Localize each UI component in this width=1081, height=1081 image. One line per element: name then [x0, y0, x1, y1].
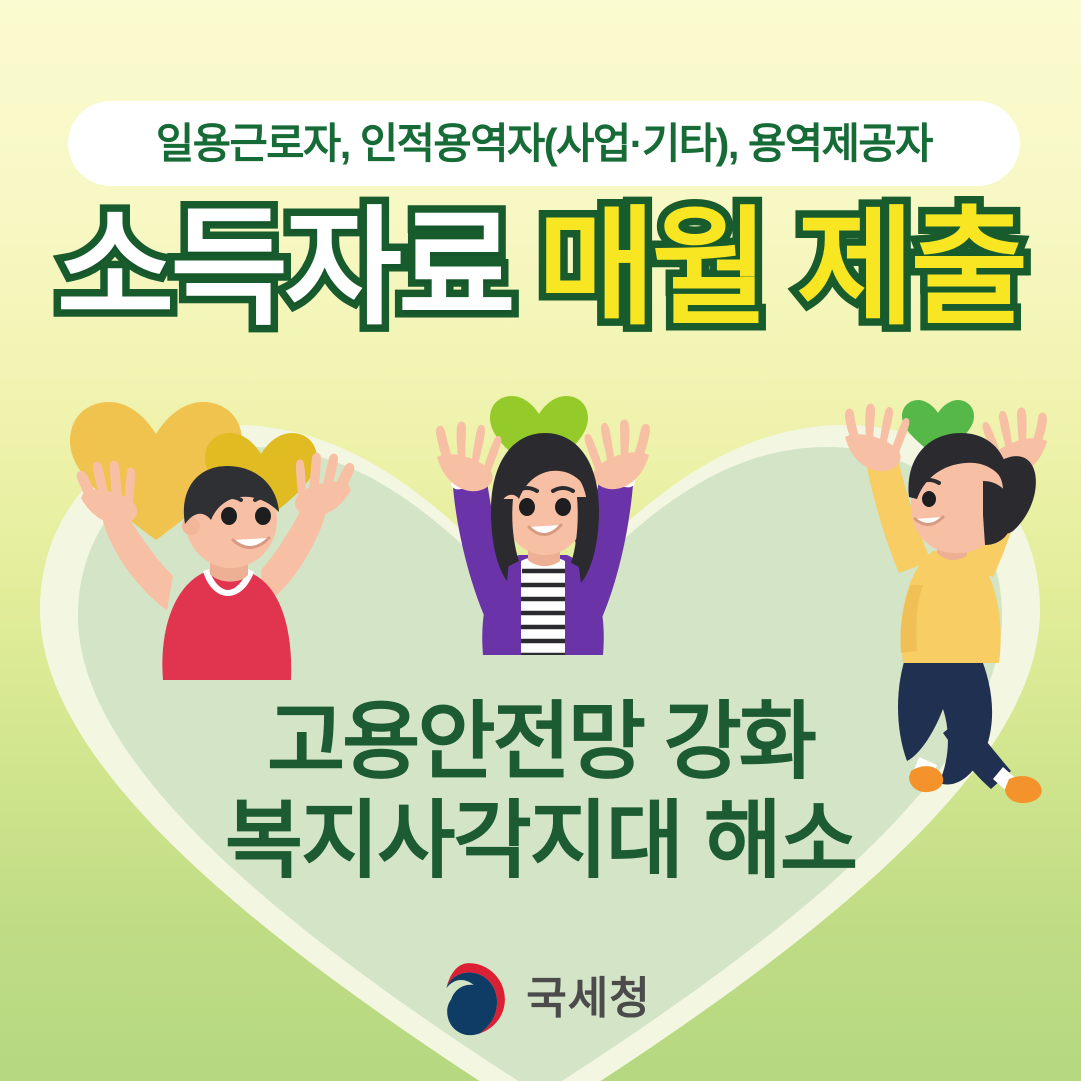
cheering-woman-illustration [395, 375, 685, 655]
taegeuk-logo-icon [430, 960, 508, 1038]
eligibility-badge: 일용근로자, 인적용역자(사업·기타), 용역제공자 [68, 101, 1020, 186]
promotional-poster: 일용근로자, 인적용역자(사업·기타), 용역제공자 소득자료매월 제출 고용안… [0, 0, 1081, 1081]
page-title: 소득자료매월 제출 [0, 205, 1081, 333]
headline-part-income-data: 소득자료 [57, 197, 512, 340]
agency-name: 국세청 [526, 977, 650, 1021]
eligibility-badge-text: 일용근로자, 인적용역자(사업·기타), 용역제공자 [156, 123, 932, 165]
subtitle-block: 고용안전망 강화 복지사각지대 해소 [0, 694, 1081, 891]
subtitle-line-employment-safety-net: 고용안전망 강화 [0, 694, 1081, 793]
subtitle-line-welfare-blind-spot: 복지사각지대 해소 [0, 793, 1081, 892]
headline-part-monthly-submission: 매월 제출 [538, 197, 1025, 340]
agency-footer: 국세청 [0, 960, 1081, 1038]
cheering-man-illustration [55, 380, 375, 680]
